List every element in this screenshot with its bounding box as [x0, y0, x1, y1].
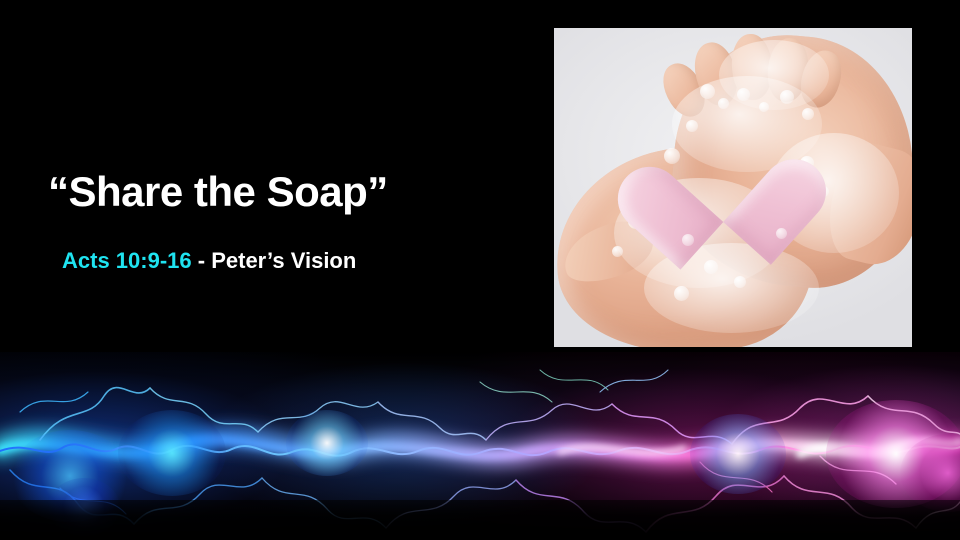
soap-bubble: [682, 234, 694, 246]
foam-patch-e: [719, 40, 829, 110]
scripture-separator: -: [192, 248, 212, 273]
slide-footer-bar: Acts: The Church Empowered Acts: 10:9-16…: [0, 500, 960, 540]
scripture-line: Acts 10:9-16 - Peter’s Vision: [62, 248, 528, 274]
soap-bubble: [780, 90, 794, 104]
scripture-reference: Acts 10:9-16: [62, 248, 192, 273]
presentation-slide: “Share the Soap” Acts 10:9-16 - Peter’s …: [0, 0, 960, 540]
scripture-topic: Peter’s Vision: [211, 248, 356, 273]
soap-bubble: [776, 228, 787, 239]
slide-title: “Share the Soap”: [48, 170, 528, 214]
bolt-branches-upper: [20, 370, 960, 444]
title-block: “Share the Soap” Acts 10:9-16 - Peter’s …: [48, 170, 528, 274]
soap-bubble: [737, 88, 750, 101]
soap-bubble: [802, 108, 814, 120]
soap-bubble: [718, 98, 729, 109]
soap-hands-photo: [554, 28, 912, 347]
soap-bubble: [759, 102, 769, 112]
soap-bubble: [700, 84, 715, 99]
soap-bubble: [612, 246, 623, 257]
soap-bubble: [734, 276, 746, 288]
heart-soap-bar: [654, 117, 788, 240]
soap-bubble: [704, 260, 718, 274]
soap-bubble: [674, 286, 689, 301]
